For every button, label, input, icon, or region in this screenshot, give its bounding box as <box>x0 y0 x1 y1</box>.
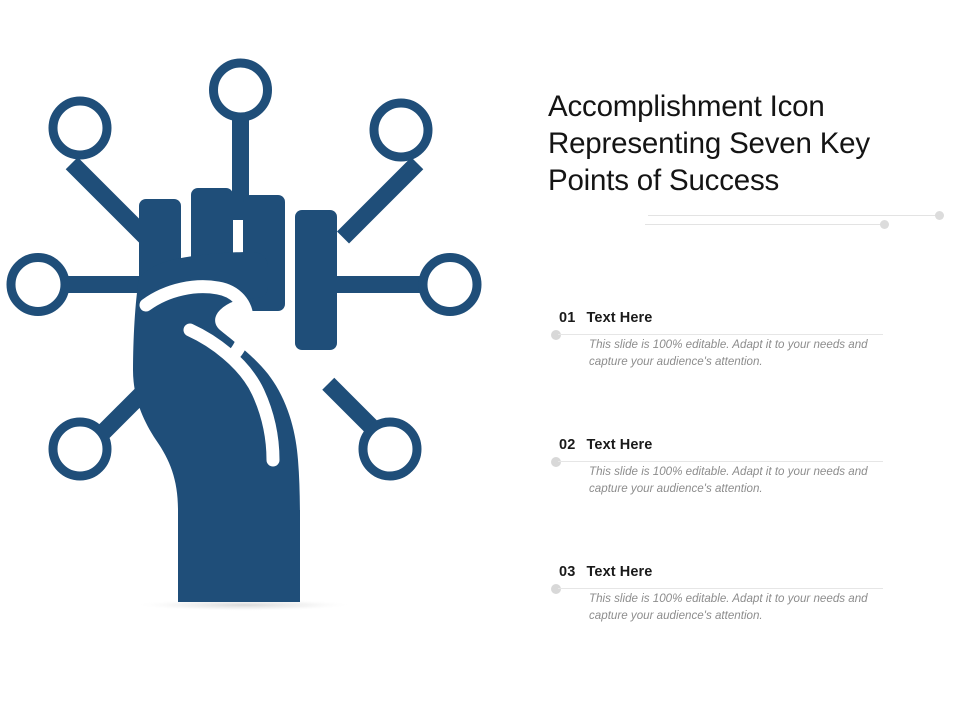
list-item-title: Text Here <box>587 564 653 580</box>
list-item-title: Text Here <box>587 310 653 326</box>
list-item-body: This slide is 100% editable. Adapt it to… <box>589 337 889 370</box>
node-spoke-upper-right <box>337 103 428 243</box>
title-divider-dot-top <box>935 211 944 220</box>
node-spoke-upper-left <box>53 101 152 243</box>
title-divider <box>548 207 948 233</box>
page-title-line-1: Accomplishment Icon <box>548 90 825 123</box>
title-divider-line-top <box>648 215 938 216</box>
finger-pinky <box>295 210 337 350</box>
list-item-bullet-dot <box>551 584 561 594</box>
list-item-bullet-dot <box>551 457 561 467</box>
wrist <box>178 510 300 602</box>
raised-fist-seven-nodes-icon <box>0 40 500 640</box>
bullet-list: 01 Text Here This slide is 100% editable… <box>548 310 948 691</box>
page-title-line-3: Points of Success <box>548 164 779 197</box>
node-spoke-lower-right <box>322 378 417 476</box>
title-divider-line-bottom <box>645 224 883 225</box>
list-item[interactable]: 01 Text Here This slide is 100% editable… <box>548 310 948 437</box>
list-item-divider <box>558 588 883 589</box>
page-title: Accomplishment IconRepresenting Seven Ke… <box>548 88 943 199</box>
list-item-number: 02 <box>559 437 576 453</box>
list-item-number: 03 <box>559 564 576 580</box>
list-item-header: 03 Text Here <box>548 564 948 580</box>
list-item-divider <box>558 461 883 462</box>
list-item-header: 02 Text Here <box>548 437 948 453</box>
fist-shape <box>133 188 337 602</box>
list-item-number: 01 <box>559 310 576 326</box>
list-item-header: 01 Text Here <box>548 310 948 326</box>
list-item-bullet-dot <box>551 330 561 340</box>
list-item-body: This slide is 100% editable. Adapt it to… <box>589 464 889 497</box>
accomplishment-fist-graphic <box>0 40 500 640</box>
title-divider-dot-bottom <box>880 220 889 229</box>
list-item-body: This slide is 100% editable. Adapt it to… <box>589 591 889 624</box>
list-item-divider <box>558 334 883 335</box>
list-item[interactable]: 03 Text Here This slide is 100% editable… <box>548 564 948 691</box>
list-item[interactable]: 02 Text Here This slide is 100% editable… <box>548 437 948 564</box>
slide-canvas: Accomplishment IconRepresenting Seven Ke… <box>0 0 960 720</box>
list-item-title: Text Here <box>587 437 653 453</box>
page-title-line-2: Representing Seven Key <box>548 127 870 160</box>
content-panel: Accomplishment IconRepresenting Seven Ke… <box>548 88 948 658</box>
